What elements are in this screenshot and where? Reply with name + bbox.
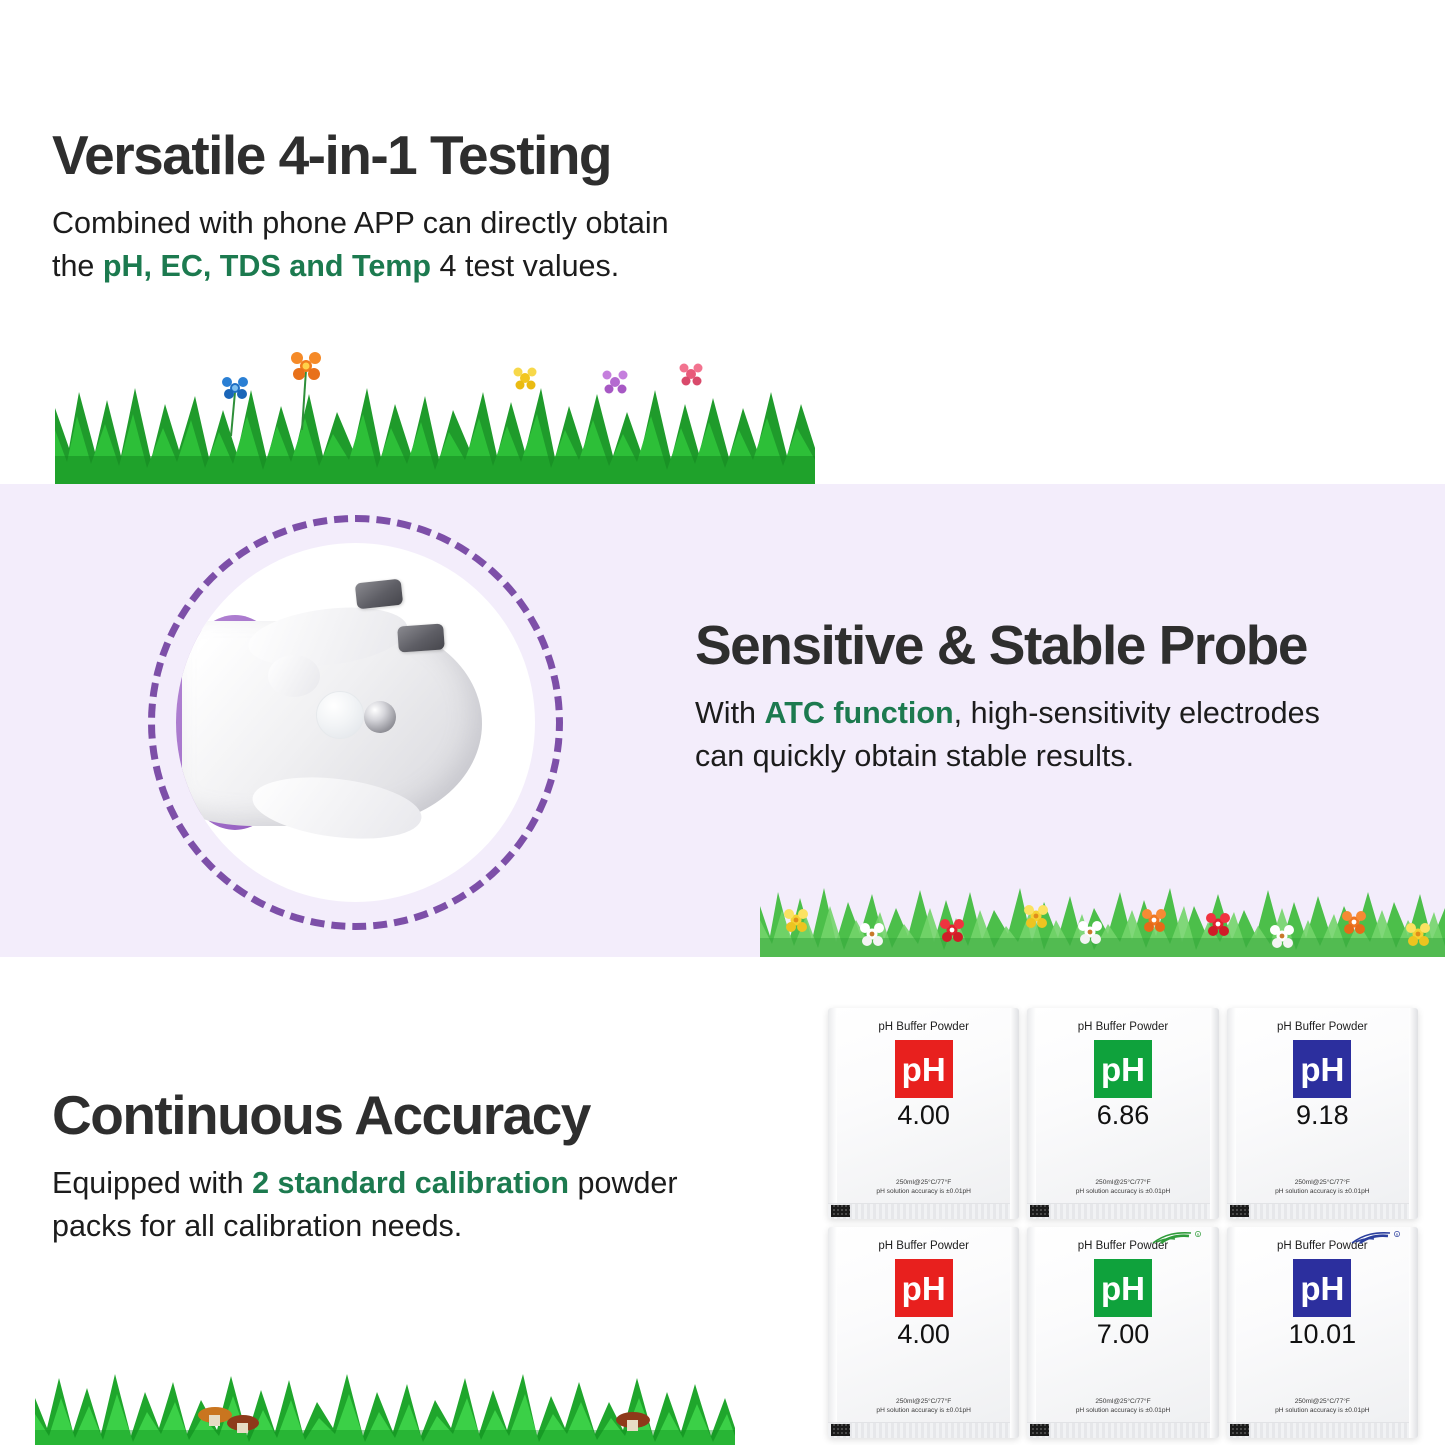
subcopy-line2-post: 4 test values. bbox=[431, 249, 619, 283]
ph-buffer-packet: pH Buffer PowderpH9.18250ml@25°C/77°FpH … bbox=[1227, 1008, 1418, 1219]
packet-ph-badge: pH bbox=[1094, 1040, 1152, 1098]
probe-ring-small bbox=[268, 655, 320, 697]
ph-buffer-packet: pH Buffer PowderpH6.86250ml@25°C/77°FpH … bbox=[1027, 1008, 1218, 1219]
panel-1-subcopy: Combined with phone APP can directly obt… bbox=[52, 202, 732, 289]
brand-logo-icon: R bbox=[1350, 1231, 1402, 1245]
temperature-sensor-ball bbox=[364, 701, 396, 733]
flower-orange bbox=[291, 352, 321, 430]
packet-tear-notch bbox=[1030, 1424, 1049, 1436]
flower-blue bbox=[222, 377, 248, 436]
packet-fine-print: 250ml@25°C/77°FpH solution accuracy is ±… bbox=[1027, 1178, 1218, 1197]
packet-title: pH Buffer Powder bbox=[1277, 1021, 1368, 1033]
packet-ph-badge: pH bbox=[1293, 1259, 1351, 1317]
packet-title: pH Buffer Powder bbox=[878, 1021, 969, 1033]
packet-ph-label: pH bbox=[1101, 1272, 1145, 1305]
subcopy-post: , high-sensitivity electrodes bbox=[954, 696, 1320, 730]
electrode-lower bbox=[397, 623, 445, 652]
brand-logo-icon: R bbox=[1151, 1231, 1203, 1245]
packet-tear-notch bbox=[831, 1205, 850, 1217]
grass-illustration bbox=[55, 330, 815, 484]
packet-ph-label: pH bbox=[1300, 1272, 1344, 1305]
ph-buffer-packet: RpH Buffer PowderpH10.01250ml@25°C/77°Fp… bbox=[1227, 1227, 1418, 1438]
packet-ph-value: 10.01 bbox=[1289, 1319, 1357, 1350]
subcopy-line1: Combined with phone APP can directly obt… bbox=[52, 206, 669, 240]
packet-tear-notch bbox=[1230, 1424, 1249, 1436]
packet-ph-badge: pH bbox=[1094, 1259, 1152, 1317]
packet-seal bbox=[828, 1203, 1019, 1219]
subcopy-post: powder bbox=[569, 1166, 678, 1200]
packet-ph-badge: pH bbox=[1293, 1040, 1351, 1098]
subcopy-pre: With bbox=[695, 696, 764, 730]
subcopy-pre: Equipped with bbox=[52, 1166, 252, 1200]
subcopy-line2: packs for all calibration needs. bbox=[52, 1209, 462, 1243]
packet-fine-print: 250ml@25°C/77°FpH solution accuracy is ±… bbox=[828, 1397, 1019, 1416]
subcopy-line2: can quickly obtain stable results. bbox=[695, 739, 1134, 773]
page-title-versatile: Versatile 4-in-1 Testing bbox=[52, 128, 732, 183]
flower-cluster-right bbox=[514, 364, 703, 394]
page-title-accuracy: Continuous Accuracy bbox=[52, 1088, 732, 1143]
packet-ph-value: 4.00 bbox=[897, 1319, 950, 1350]
packet-fine-print: 250ml@25°C/77°FpH solution accuracy is ±… bbox=[1027, 1397, 1218, 1416]
packet-seal bbox=[1227, 1422, 1418, 1438]
panel-2-subcopy: With ATC function, high-sensitivity elec… bbox=[695, 692, 1395, 779]
ph-buffer-packet: pH Buffer PowderpH4.00250ml@25°C/77°FpH … bbox=[828, 1227, 1019, 1438]
ph-buffer-packet: RpH Buffer PowderpH7.00250ml@25°C/77°FpH… bbox=[1027, 1227, 1218, 1438]
packet-seal bbox=[828, 1422, 1019, 1438]
packet-title: pH Buffer Powder bbox=[878, 1240, 969, 1252]
subcopy-line2-pre: the bbox=[52, 249, 103, 283]
packet-ph-value: 7.00 bbox=[1097, 1319, 1150, 1350]
packet-ph-value: 6.86 bbox=[1097, 1100, 1150, 1131]
subcopy-highlight: pH, EC, TDS and Temp bbox=[103, 249, 431, 283]
packet-title: pH Buffer Powder bbox=[1078, 1021, 1169, 1033]
probe-guard-bottom bbox=[249, 769, 425, 847]
ph-glass-bulb bbox=[316, 691, 364, 739]
panel-1-text-block: Versatile 4-in-1 Testing Combined with p… bbox=[52, 128, 732, 289]
probe-guard-top bbox=[245, 599, 411, 674]
probe-image-area bbox=[176, 543, 535, 902]
packet-tear-notch bbox=[831, 1424, 850, 1436]
page-title-probe: Sensitive & Stable Probe bbox=[695, 618, 1395, 673]
packet-seal bbox=[1027, 1203, 1218, 1219]
panel-versatile-testing: Versatile 4-in-1 Testing Combined with p… bbox=[0, 0, 1445, 484]
packet-tear-notch bbox=[1030, 1205, 1049, 1217]
subcopy-highlight: ATC function bbox=[764, 696, 953, 730]
packet-fine-print: 250ml@25°C/77°FpH solution accuracy is ±… bbox=[1227, 1397, 1418, 1416]
subcopy-highlight: 2 standard calibration bbox=[252, 1166, 569, 1200]
packet-fine-print: 250ml@25°C/77°FpH solution accuracy is ±… bbox=[1227, 1178, 1418, 1197]
packet-fine-print: 250ml@25°C/77°FpH solution accuracy is ±… bbox=[828, 1178, 1019, 1197]
packet-tear-notch bbox=[1230, 1205, 1249, 1217]
packet-ph-badge: pH bbox=[895, 1259, 953, 1317]
ph-buffer-packet-grid: pH Buffer PowderpH4.00250ml@25°C/77°FpH … bbox=[828, 1008, 1418, 1438]
packet-ph-label: pH bbox=[902, 1053, 946, 1086]
packet-seal bbox=[1027, 1422, 1218, 1438]
electrode-upper bbox=[355, 579, 403, 610]
packet-ph-badge: pH bbox=[895, 1040, 953, 1098]
packet-ph-label: pH bbox=[1101, 1053, 1145, 1086]
grass-border-top-panel bbox=[55, 330, 815, 484]
panel-3-subcopy: Equipped with 2 standard calibration pow… bbox=[52, 1162, 732, 1249]
panel-2-text-block: Sensitive & Stable Probe With ATC functi… bbox=[695, 618, 1395, 779]
probe-closeup bbox=[148, 515, 563, 930]
panel-1-photo: mS/c 1320 77.0 BLE-9908 bbox=[760, 0, 1445, 480]
packet-ph-label: pH bbox=[902, 1272, 946, 1305]
packet-ph-value: 9.18 bbox=[1296, 1100, 1349, 1131]
packet-ph-value: 4.00 bbox=[897, 1100, 950, 1131]
packet-seal bbox=[1227, 1203, 1418, 1219]
panel-3-text-block: Continuous Accuracy Equipped with 2 stan… bbox=[52, 1088, 732, 1249]
ph-buffer-packet: pH Buffer PowderpH4.00250ml@25°C/77°FpH … bbox=[828, 1008, 1019, 1219]
packet-ph-label: pH bbox=[1300, 1053, 1344, 1086]
